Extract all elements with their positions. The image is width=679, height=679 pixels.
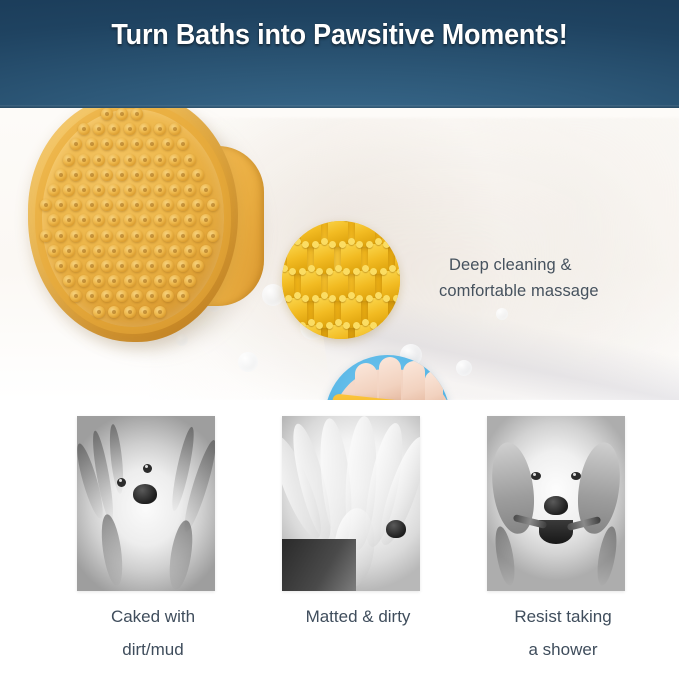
brush-nub [154, 123, 166, 135]
caption-line1: Resist taking [458, 600, 668, 633]
photo-dirty-puppy [77, 416, 215, 591]
brush-nub [108, 214, 120, 226]
brush-nub [169, 123, 181, 135]
bubble [496, 308, 508, 320]
brush-nub [108, 275, 120, 287]
brush-nub [78, 245, 90, 257]
brush-nub [162, 290, 174, 302]
brush-nub [116, 169, 128, 181]
brush-nub [78, 275, 90, 287]
brush-nub [184, 214, 196, 226]
brush-nub [162, 230, 174, 242]
brush-nub [169, 275, 181, 287]
brush-nub [192, 169, 204, 181]
brush-nub [70, 230, 82, 242]
dog-eye [117, 478, 126, 487]
brush-nub [63, 275, 75, 287]
brush-nub [108, 123, 120, 135]
brush-nub [93, 306, 105, 318]
brush-nub [124, 123, 136, 135]
brush-nub [86, 138, 98, 150]
brush-nub [63, 184, 75, 196]
brush-nub [70, 260, 82, 272]
brush-nub [93, 245, 105, 257]
brush-nub [116, 138, 128, 150]
brush-nub [200, 214, 212, 226]
panel-caption: Resist taking a shower [458, 600, 668, 666]
brush-nubs [28, 108, 238, 342]
brush-nub [40, 230, 52, 242]
brush-nub [162, 260, 174, 272]
brush-nub [116, 199, 128, 211]
brush-nub [162, 199, 174, 211]
brush-nub [169, 214, 181, 226]
brush-nub [146, 169, 158, 181]
dog-eye [571, 472, 581, 480]
brush-body [28, 108, 238, 342]
brush-nub [177, 230, 189, 242]
brush-nub [86, 290, 98, 302]
brush-nub [154, 306, 166, 318]
caption-line1: Matted & dirty [253, 600, 463, 633]
brush-nub [116, 260, 128, 272]
brush-nub [48, 214, 60, 226]
finger [379, 357, 401, 400]
bubble [456, 360, 472, 376]
brush-nub [63, 245, 75, 257]
brush-nub [48, 245, 60, 257]
brush-nub [146, 290, 158, 302]
brush-nub [63, 214, 75, 226]
brush-nub [177, 260, 189, 272]
brush-nub [184, 154, 196, 166]
dog-snout [386, 520, 406, 538]
nub-macro [355, 325, 375, 339]
brush-nub [177, 138, 189, 150]
brush-nub [192, 199, 204, 211]
brush-nub [184, 245, 196, 257]
brush-nub [93, 184, 105, 196]
brush-nub [93, 275, 105, 287]
brush-nub [40, 199, 52, 211]
brush-nub [131, 199, 143, 211]
brush-nub [101, 138, 113, 150]
brush-nub [55, 199, 67, 211]
product-brush [28, 108, 268, 354]
brush-nub [139, 306, 151, 318]
product-infographic: Turn Baths into Pawsitive Moments! [0, 0, 679, 679]
brush-nub [124, 214, 136, 226]
caption-line2: a shower [458, 633, 668, 666]
finger [425, 371, 443, 400]
brush-nub [86, 169, 98, 181]
brush-nub [200, 245, 212, 257]
brush-nub [124, 184, 136, 196]
brush-nub [101, 108, 113, 120]
nub-macro-grid [282, 221, 400, 339]
brush-nub [139, 214, 151, 226]
feature-label-deep-cleaning: Deep cleaning & comfortable massage [449, 252, 599, 304]
brush-nub [116, 108, 128, 120]
brush-nub [101, 290, 113, 302]
brush-nub [108, 306, 120, 318]
brush-nub [124, 154, 136, 166]
brush-nub [63, 154, 75, 166]
brush-nub [101, 230, 113, 242]
brush-nub [139, 245, 151, 257]
brush-nub [154, 275, 166, 287]
brush-nub [124, 306, 136, 318]
bubble [238, 352, 258, 372]
panel-caption: Caked with dirt/mud [48, 600, 258, 666]
brush-nub [70, 169, 82, 181]
brush-nub [169, 184, 181, 196]
brush-nub [55, 169, 67, 181]
brush-nub [70, 199, 82, 211]
brush-nub [139, 123, 151, 135]
caption-line2: dirt/mud [48, 633, 258, 666]
panel-caption: Matted & dirty [253, 600, 463, 633]
caption-line1: Caked with [48, 600, 258, 633]
finger [403, 361, 425, 400]
brush-nub [177, 290, 189, 302]
brush-nub [154, 214, 166, 226]
brush-nub [162, 138, 174, 150]
brush-nub [55, 230, 67, 242]
problem-panels: Caked with dirt/mud Matted & dirty [0, 400, 679, 679]
brush-nub [131, 260, 143, 272]
brush-nub [78, 184, 90, 196]
page-title: Turn Baths into Pawsitive Moments! [24, 19, 655, 52]
dog-eye [143, 464, 152, 473]
brush-nub [139, 154, 151, 166]
brush-nub [116, 230, 128, 242]
hero-section: Deep cleaning & comfortable massage Adju… [0, 108, 679, 400]
brush-nub [101, 169, 113, 181]
brush-nub [86, 199, 98, 211]
header-banner: Turn Baths into Pawsitive Moments! [0, 0, 679, 108]
brush-nub [124, 245, 136, 257]
brush-nub [146, 138, 158, 150]
brush-nub [108, 245, 120, 257]
brush-nub [93, 214, 105, 226]
brush-nub [78, 214, 90, 226]
nub-macro [328, 325, 348, 339]
brush-nub [207, 199, 219, 211]
brush-nub [207, 230, 219, 242]
photo-golden-retriever [487, 416, 625, 591]
brush-nub [169, 245, 181, 257]
brush-nub [78, 154, 90, 166]
brush-nub [48, 184, 60, 196]
brush-nub [108, 154, 120, 166]
brush-nub [101, 260, 113, 272]
brush-nub [78, 123, 90, 135]
brush-nub [192, 230, 204, 242]
photo-matted-dog [282, 416, 420, 591]
feature-circle-deep-cleaning [282, 221, 400, 339]
brush-nub [131, 169, 143, 181]
brush-nub [131, 290, 143, 302]
brush-nub [177, 199, 189, 211]
brush-nub [55, 260, 67, 272]
feature-label-line2: comfortable massage [439, 278, 599, 304]
nub-macro [301, 325, 321, 339]
brush-nub [101, 199, 113, 211]
dark-foreground-object [282, 539, 356, 591]
brush-nub [146, 199, 158, 211]
brush-nub [108, 184, 120, 196]
brush-nub [177, 169, 189, 181]
nub-macro [382, 325, 400, 339]
brush-nub [70, 138, 82, 150]
brush-nub [169, 154, 181, 166]
brush-nub [86, 230, 98, 242]
nub-macro [282, 325, 294, 339]
brush-nub [93, 154, 105, 166]
brush-nub [162, 169, 174, 181]
brush-nub [139, 184, 151, 196]
brush-nub [93, 123, 105, 135]
dog-snout [544, 496, 568, 515]
brush-nub [154, 245, 166, 257]
brush-nub [184, 184, 196, 196]
brush-nub [154, 154, 166, 166]
brush-nub [131, 138, 143, 150]
brush-nub [86, 260, 98, 272]
brush-nub [139, 275, 151, 287]
brush-nub [192, 260, 204, 272]
brush-nub [131, 230, 143, 242]
brush-nub [131, 108, 143, 120]
finger [355, 363, 377, 400]
brush-nub [124, 275, 136, 287]
brush-nub [146, 230, 158, 242]
brush-nub [184, 275, 196, 287]
feature-label-line1: Deep cleaning & [449, 252, 599, 278]
brush-nub [200, 184, 212, 196]
brush-nub [146, 260, 158, 272]
dog-eye [531, 472, 541, 480]
brush-nub [116, 290, 128, 302]
brush-nub [70, 290, 82, 302]
dog-snout [133, 484, 157, 504]
brush-nub [154, 184, 166, 196]
